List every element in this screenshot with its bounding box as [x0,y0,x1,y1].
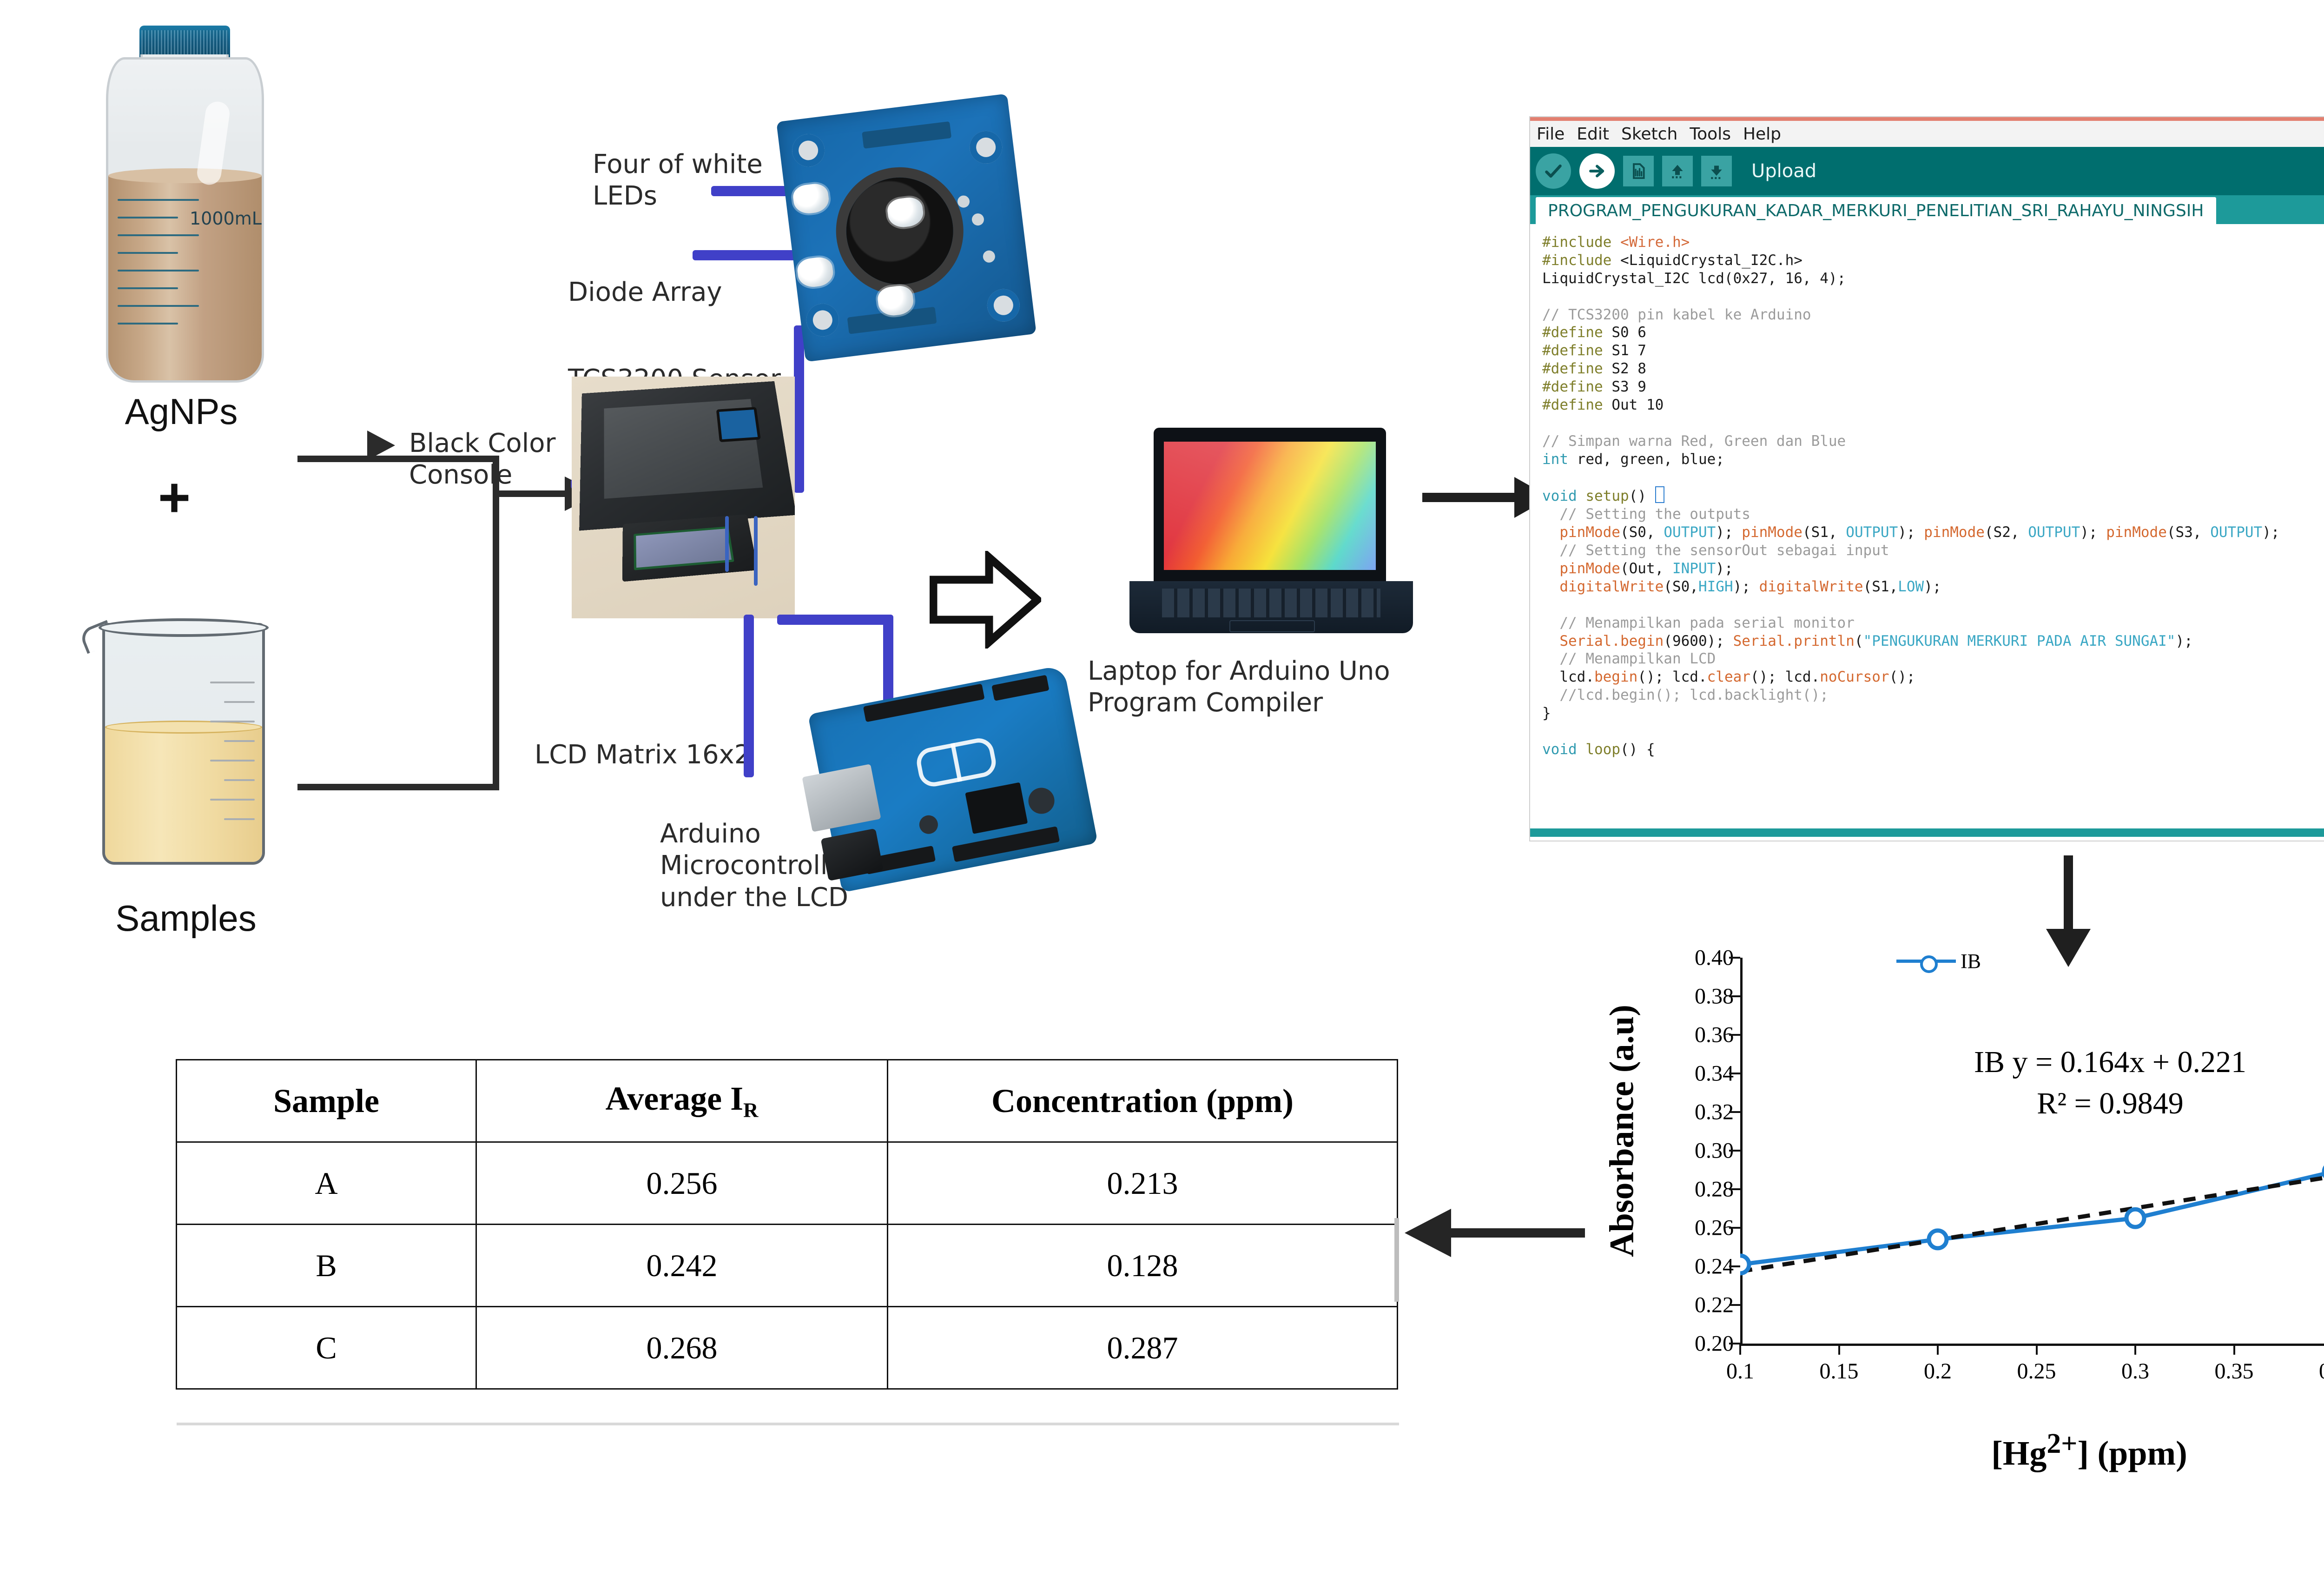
bottle-volume-label: 1000mL [190,208,262,229]
menu-item-file[interactable]: File [1537,125,1565,144]
y-tick-mark [1729,1304,1740,1306]
legend-label-ib: IB [1961,949,1981,973]
ide-menu-bar: File Edit Sketch Tools Help [1530,121,2324,147]
chart-x-axis-label: [Hg2+] (ppm) [1590,1427,2324,1474]
cell-concentration: 0.128 [888,1225,1398,1307]
console-enclosure [579,381,795,531]
save-sketch-button[interactable] [1701,156,1732,186]
y-tick-mark [1729,957,1740,959]
x-tick-label: 0.15 [1820,1358,1859,1384]
arrow-to-ide-stem [1422,493,1520,502]
mount-hole-icon [968,129,1004,166]
results-table: Sample Average IR Concentration (ppm) A0… [176,1059,1398,1390]
x-tick-label: 0.1 [1726,1358,1754,1384]
y-tick-label: 0.30 [1641,1138,1734,1164]
white-led-icon [796,256,835,289]
table-header-row: Sample Average IR Concentration (ppm) [177,1060,1398,1142]
arrow-to-chart-stem [2064,855,2073,934]
cell-concentration: 0.213 [888,1142,1398,1225]
x-tick-mark [2233,1344,2235,1355]
legend-line-swatch [1896,960,1956,963]
open-arrow-up-icon [1668,162,1687,180]
arrow-to-table-stem [1450,1228,1585,1238]
y-tick-mark [1729,1150,1740,1152]
merge-bracket-vertical [493,456,499,790]
sensor-lens-icon [840,172,959,291]
tcs3200-sensor-board [776,93,1037,362]
sketch-tab-label: PROGRAM_PENGUKURAN_KADAR_MERKURI_PENELIT… [1548,201,2204,220]
check-icon [1543,161,1564,181]
merge-bracket-bottom [297,784,497,790]
save-arrow-down-icon [1707,162,1726,180]
leader-line-lcd-right [777,615,893,625]
ide-status-bar [1530,828,2324,837]
sensor-pin-header [862,121,951,149]
laptop-illustration [1129,428,1413,642]
bottle-graduation-marks [118,194,201,334]
table-row: B0.2420.128 [177,1225,1398,1307]
new-sketch-icon [1629,162,1648,180]
y-tick-mark [1729,1343,1740,1344]
y-tick-mark [1729,1034,1740,1036]
y-tick-label: 0.24 [1641,1254,1734,1279]
y-tick-label: 0.40 [1641,945,1734,971]
laptop-touchpad [1229,620,1315,632]
table-row: A0.2560.213 [177,1142,1398,1225]
y-tick-mark [1729,1227,1740,1229]
bottle-body: 1000mL [106,57,264,383]
cell-average-ir: 0.268 [476,1307,888,1389]
table-edge-shadow [1394,1218,1399,1302]
samples-beaker-illustration [74,604,293,902]
x-tick-label: 0.3 [2121,1358,2149,1384]
merge-arrow-stem [493,490,567,497]
agnps-bottle-illustration: 1000mL [70,26,297,393]
menu-item-help[interactable]: Help [1743,125,1781,144]
chart-equation: IB y = 0.164x + 0.221 [1841,1041,2324,1083]
cell-average-ir: 0.242 [476,1225,888,1307]
black-console-photo [572,377,795,618]
solder-pad [982,250,996,263]
wire [725,516,729,572]
y-tick-mark [1729,1111,1740,1113]
window-accent-bar [1530,117,2324,121]
menu-item-sketch[interactable]: Sketch [1621,125,1677,144]
y-tick-label: 0.38 [1641,984,1734,1009]
cell-average-ir: 0.256 [476,1142,888,1225]
beaker-graduation-marks [199,682,255,835]
y-tick-label: 0.32 [1641,1099,1734,1125]
laptop-compiler-label: Laptop for Arduino Uno Program Compiler [1088,656,1459,719]
leader-line-lcd-down [744,615,754,777]
white-led-icon [792,182,830,215]
solder-pad [957,195,971,208]
chart-plot-area [1740,958,2324,1344]
menu-item-edit[interactable]: Edit [1577,125,1609,144]
leader-line-sensor [794,325,804,493]
ide-toolbar: Upload [1530,147,2324,195]
y-tick-label: 0.20 [1641,1331,1734,1357]
y-tick-mark [1729,1265,1740,1267]
x-axis-label-superscript: 2+ [2047,1428,2077,1459]
process-hollow-arrow-icon [930,551,1041,649]
data-point-marker [2126,1209,2144,1227]
laptop-screen [1164,442,1376,570]
arrow-to-table-head-icon [1405,1209,1451,1257]
legend-marker-icon [1920,955,1938,973]
chart-r-squared: R² = 0.9849 [1841,1083,2324,1124]
solder-pad [971,213,984,226]
x-tick-label: 0.25 [2017,1358,2056,1384]
y-tick-label: 0.34 [1641,1061,1734,1086]
data-point-marker [1740,1256,1749,1273]
white-leds-label: Four of white LEDs [593,149,811,212]
verify-button[interactable] [1536,153,1571,189]
samples-label: Samples [56,897,316,940]
chart-legend: IB [1896,949,1981,973]
column-header-subscript: R [743,1099,758,1122]
data-point-marker [1929,1231,1947,1248]
new-sketch-button[interactable] [1623,156,1654,186]
column-header-sample: Sample [177,1060,476,1142]
y-tick-label: 0.22 [1641,1292,1734,1318]
table-body: A0.2560.213B0.2420.128C0.2680.287 [177,1142,1398,1389]
mount-hole-icon [790,132,826,168]
y-tick-mark [1729,1188,1740,1190]
x-tick-mark [2036,1344,2038,1355]
cell-sample: A [177,1142,476,1225]
mount-hole-icon [805,302,841,338]
arrow-right-icon [1587,161,1607,181]
chart-y-axis-label: Absorbance (a.u) [1603,927,1642,1336]
code-editor[interactable]: #include <Wire.h> #include <LiquidCrysta… [1542,233,2324,814]
x-tick-label: 0.35 [2215,1358,2254,1384]
table-row: C0.2680.287 [177,1307,1398,1389]
wire [754,516,758,586]
calibration-chart: Absorbance (a.u) 0.400.380.360.340.320.3… [1590,958,2324,1423]
x-tick-mark [1739,1344,1741,1355]
sketch-tab[interactable]: PROGRAM_PENGUKURAN_KADAR_MERKURI_PENELIT… [1536,197,2216,224]
y-tick-label: 0.28 [1641,1177,1734,1202]
laptop-lid [1154,428,1386,581]
laptop-keyboard [1162,589,1380,617]
arduino-ide-window: File Edit Sketch Tools Help [1529,116,2324,841]
mounted-sensor [716,407,761,442]
cell-concentration: 0.287 [888,1307,1398,1389]
open-sketch-button[interactable] [1662,156,1693,186]
series-ib-line [1740,1143,2324,1265]
process-arrow-head-icon [367,430,395,460]
lcd-screen [634,526,734,570]
beaker-rim [99,618,269,637]
upload-button[interactable] [1579,153,1615,189]
x-axis-label-tail: ] (ppm) [2077,1435,2187,1473]
column-header-average-ir-text: Average I [606,1080,744,1117]
y-tick-mark [1729,1073,1740,1074]
chart-equation-annotation: IB y = 0.164x + 0.221 R² = 0.9849 [1841,1041,2324,1124]
y-tick-label: 0.26 [1641,1215,1734,1241]
x-tick-label: 0.2 [1924,1358,1952,1384]
y-tick-mark [1729,995,1740,997]
x-tick-mark [1937,1344,1939,1355]
x-tick-mark [2134,1344,2136,1355]
menu-item-tools[interactable]: Tools [1690,125,1731,144]
x-axis-label-base: [Hg [1991,1435,2047,1473]
column-header-average-ir: Average IR [476,1060,888,1142]
arduino-uno-board-photo [808,665,1098,893]
column-header-concentration: Concentration (ppm) [888,1060,1398,1142]
table-bottom-shadow [177,1423,1399,1425]
agnps-label: AgNPs [65,391,297,433]
lcd-matrix-label: LCD Matrix 16x2 [535,739,776,771]
mount-hole-icon [985,287,1022,324]
beaker-body [102,623,265,865]
cell-sample: B [177,1225,476,1307]
y-tick-label: 0.36 [1641,1022,1734,1048]
x-tick-label: 0.4 [2319,1358,2324,1384]
cell-sample: C [177,1307,476,1389]
upload-status-text: Upload [1751,160,1816,182]
diode-array-label: Diode Array [568,277,786,308]
plus-symbol: + [158,470,191,525]
lcd-module-photo [622,514,758,582]
chart-x-axis [1740,1344,2324,1346]
x-tick-mark [1838,1344,1840,1355]
